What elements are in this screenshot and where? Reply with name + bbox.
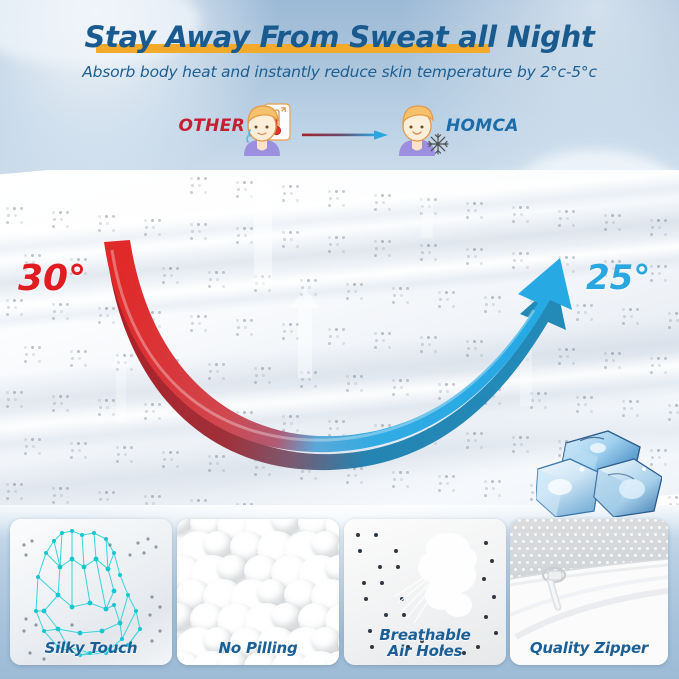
- person-with-thermometer-icon: [236, 100, 294, 162]
- feature-panels: Silky Touch No Pilling: [0, 519, 679, 667]
- right-arrow-icon: [302, 127, 388, 137]
- feature-panel-quality-zipper[interactable]: Quality Zipper: [510, 519, 668, 665]
- feature-label: No Pilling: [177, 640, 339, 656]
- page-subtitle: Absorb body heat and instantly reduce sk…: [0, 63, 679, 81]
- feature-panel-no-pilling[interactable]: No Pilling: [177, 519, 339, 665]
- feature-label: Silky Touch: [10, 640, 172, 656]
- product-infographic: Stay Away From Sweat all Night Absorb bo…: [0, 0, 679, 679]
- feature-label: Breathable Air Holes: [344, 627, 506, 659]
- hot-temperature-label: 30°: [18, 258, 86, 299]
- ice-cubes-icon: [536, 425, 662, 517]
- other-label: OTHER: [165, 116, 245, 136]
- person-with-snowflake-icon: [393, 100, 451, 162]
- cold-temperature-label: 25°: [586, 258, 650, 298]
- feature-panel-silky-touch[interactable]: Silky Touch: [10, 519, 172, 665]
- page-title: Stay Away From Sweat all Night: [0, 20, 679, 54]
- homca-label: HOMCA: [446, 116, 556, 136]
- feature-panel-breathable-air-holes[interactable]: Breathable Air Holes: [344, 519, 506, 665]
- feature-label-line2: Air Holes: [388, 642, 463, 660]
- comparison-row: OTHER: [0, 100, 679, 162]
- feature-label: Quality Zipper: [510, 640, 668, 656]
